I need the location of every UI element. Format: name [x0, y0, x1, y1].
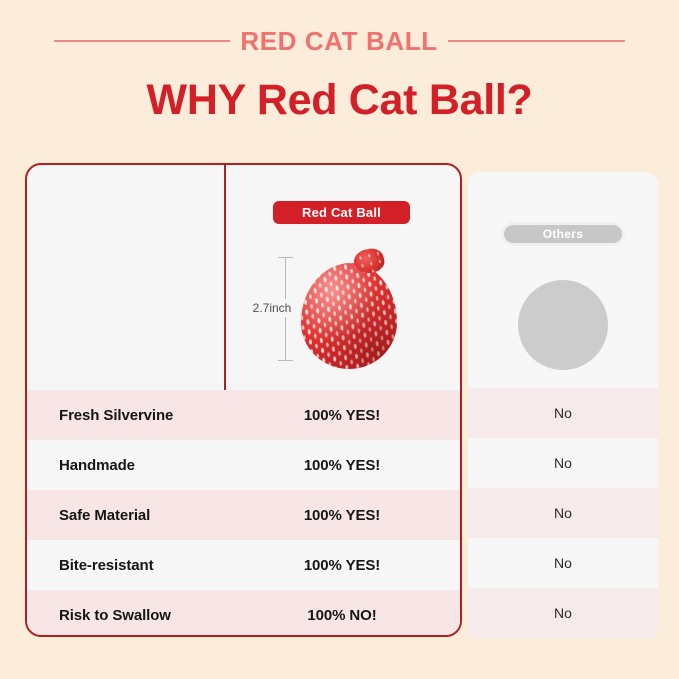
measurement-label: 2.7inch: [243, 299, 301, 317]
others-cell: No: [468, 588, 658, 638]
ball-shading: [301, 263, 397, 369]
measurement-cap-top: [278, 257, 293, 258]
rule-left: [54, 40, 230, 42]
feature-label: Fresh Silvervine: [27, 407, 224, 424]
measurement-cap-bottom: [278, 360, 293, 361]
others-cell: No: [468, 438, 658, 488]
comparison-section: Others No No No No No Red Cat Ball 2.7in…: [0, 160, 679, 650]
comparison-rows: Fresh Silvervine 100% YES! Handmade 100%…: [27, 390, 460, 637]
red-cat-ball-badge: Red Cat Ball: [273, 201, 410, 224]
product-hero: Red Cat Ball 2.7inch: [27, 165, 460, 387]
red-cat-ball-cell: 100% YES!: [224, 557, 460, 574]
others-cell: No: [468, 488, 658, 538]
others-badge-label: Others: [543, 227, 583, 241]
eyebrow-row: RED CAT BALL: [0, 24, 679, 58]
feature-label: Safe Material: [27, 507, 224, 524]
red-crochet-cat-ball-image: [299, 249, 399, 371]
red-cat-ball-card: Red Cat Ball 2.7inch Fresh: [25, 163, 462, 637]
feature-label: Handmade: [27, 457, 224, 474]
red-cat-ball-badge-label: Red Cat Ball: [302, 205, 381, 220]
others-badge: Others: [501, 222, 625, 246]
feature-label: Bite-resistant: [27, 557, 224, 574]
red-cat-ball-cell: 100% YES!: [224, 407, 460, 424]
ball-body: [301, 263, 397, 369]
grey-circle-placeholder-icon: [518, 280, 608, 370]
others-cell: No: [468, 388, 658, 438]
table-row: Safe Material 100% YES!: [27, 490, 460, 540]
table-row: Risk to Swallow 100% NO!: [27, 590, 460, 637]
table-row: Bite-resistant 100% YES!: [27, 540, 460, 590]
page-title: WHY Red Cat Ball?: [0, 72, 679, 128]
red-cat-ball-cell: 100% YES!: [224, 457, 460, 474]
others-column-rows: No No No No No: [468, 388, 658, 638]
others-cell: No: [468, 538, 658, 588]
red-cat-ball-cell: 100% NO!: [224, 607, 460, 624]
table-row: Fresh Silvervine 100% YES!: [27, 390, 460, 440]
brand-eyebrow: RED CAT BALL: [240, 24, 437, 58]
rule-right: [448, 40, 625, 42]
table-row: Handmade 100% YES!: [27, 440, 460, 490]
page-header: RED CAT BALL WHY Red Cat Ball?: [0, 0, 679, 150]
feature-label: Risk to Swallow: [27, 607, 224, 624]
red-cat-ball-cell: 100% YES!: [224, 507, 460, 524]
